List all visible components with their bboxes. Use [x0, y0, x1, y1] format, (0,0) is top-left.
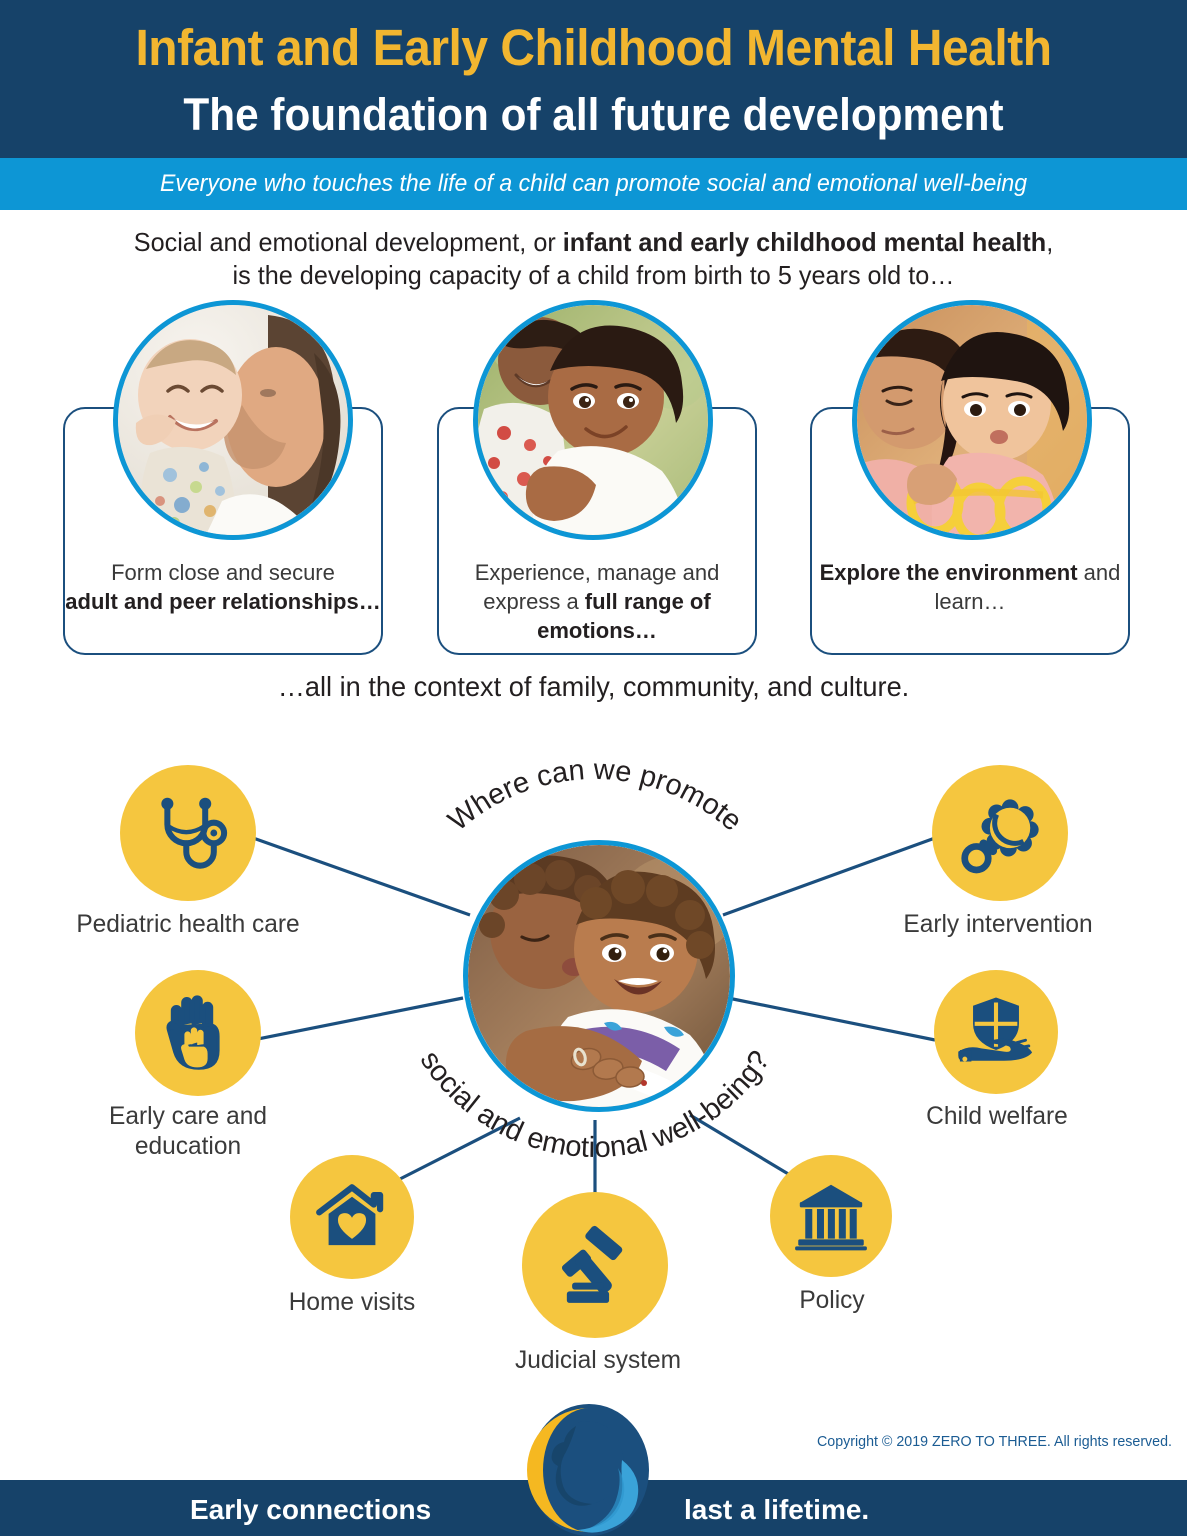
intro-line1-pre: Social and emotional development, or	[134, 227, 563, 257]
infographic-page: Infant and Early Childhood Mental Health…	[0, 0, 1187, 1536]
zero-to-three-logo	[518, 1404, 660, 1536]
node-circle-early-intervention[interactable]	[932, 765, 1068, 901]
subtitle-banner: Everyone who touches the life of a child…	[0, 158, 1187, 210]
node-label-home-visits: Home visits	[225, 1288, 480, 1318]
node-label-pediatric: Pediatric health care	[14, 910, 363, 940]
tagline-right: last a lifetime.	[684, 1494, 869, 1526]
capability-photo-2	[473, 300, 713, 540]
node-circle-judicial[interactable]	[522, 1192, 668, 1338]
node-circle-early-care[interactable]	[135, 970, 261, 1096]
center-question: Where can we promote social and emotiona…	[355, 745, 835, 1165]
context-statement: …all in the context of family, community…	[18, 671, 1169, 703]
node-label-judicial: Judicial system	[441, 1346, 755, 1376]
node-label-early-intervention: Early intervention	[831, 910, 1164, 940]
subtitle-text: Everyone who touches the life of a child…	[24, 170, 1164, 198]
capability-text-3: Explore the environment and learn…	[810, 558, 1130, 616]
capability-photo-3	[852, 300, 1092, 540]
node-label-policy: Policy	[712, 1286, 951, 1316]
node-label-early-care: Early care and education	[18, 1102, 357, 1161]
intro-line1-post: ,	[1046, 227, 1053, 257]
tagline-left: Early connections	[190, 1494, 431, 1526]
node-circle-home-visits[interactable]	[290, 1155, 414, 1279]
svg-text:social and emotional well-bein: social and emotional well-being?	[414, 1045, 777, 1164]
capability-text-1: Form close and secureadult and peer rela…	[63, 558, 383, 616]
page-title-primary: Infant and Early Childhood Mental Health	[36, 22, 1152, 73]
mother-and-baby-with-toy-photo	[857, 305, 1087, 535]
stethoscope-icon	[145, 790, 231, 876]
mother-hugging-toddler-photo	[478, 305, 708, 535]
capability-text-2: Experience, manage and express a full ra…	[437, 558, 757, 645]
capability-text-3-bold: Explore the environment	[820, 560, 1078, 585]
node-circle-policy[interactable]	[770, 1155, 892, 1277]
rattle-icon	[958, 791, 1042, 875]
brand-logo	[518, 1404, 660, 1536]
hand-shield-icon	[955, 991, 1037, 1073]
page-title-secondary: The foundation of all future development	[36, 92, 1152, 137]
father-kissing-baby-photo	[118, 305, 348, 535]
gavel-icon	[551, 1221, 639, 1309]
capability-text-1-bold: adult and peer relationships…	[65, 589, 380, 614]
node-circle-pediatric[interactable]	[120, 765, 256, 901]
node-label-child-welfare: Child welfare	[835, 1102, 1158, 1132]
capability-text-1-normal: Form close and secure	[111, 560, 335, 585]
node-label-early-care-text: Early care and education	[109, 1102, 267, 1160]
home-heart-icon	[313, 1178, 391, 1256]
hands-icon	[158, 993, 238, 1073]
capability-photo-1	[113, 300, 353, 540]
node-circle-child-welfare[interactable]	[934, 970, 1058, 1094]
intro-paragraph: Social and emotional development, or inf…	[66, 226, 1120, 292]
svg-text:Where can we promote: Where can we promote	[442, 754, 747, 838]
intro-line2: is the developing capacity of a child fr…	[233, 260, 955, 290]
intro-line1-bold: infant and early childhood mental health	[563, 227, 1046, 257]
header-banner: Infant and Early Childhood Mental Health…	[0, 0, 1187, 158]
promotion-settings-diagram: Where can we promote social and emotiona…	[0, 730, 1187, 1390]
government-building-icon	[792, 1177, 870, 1255]
